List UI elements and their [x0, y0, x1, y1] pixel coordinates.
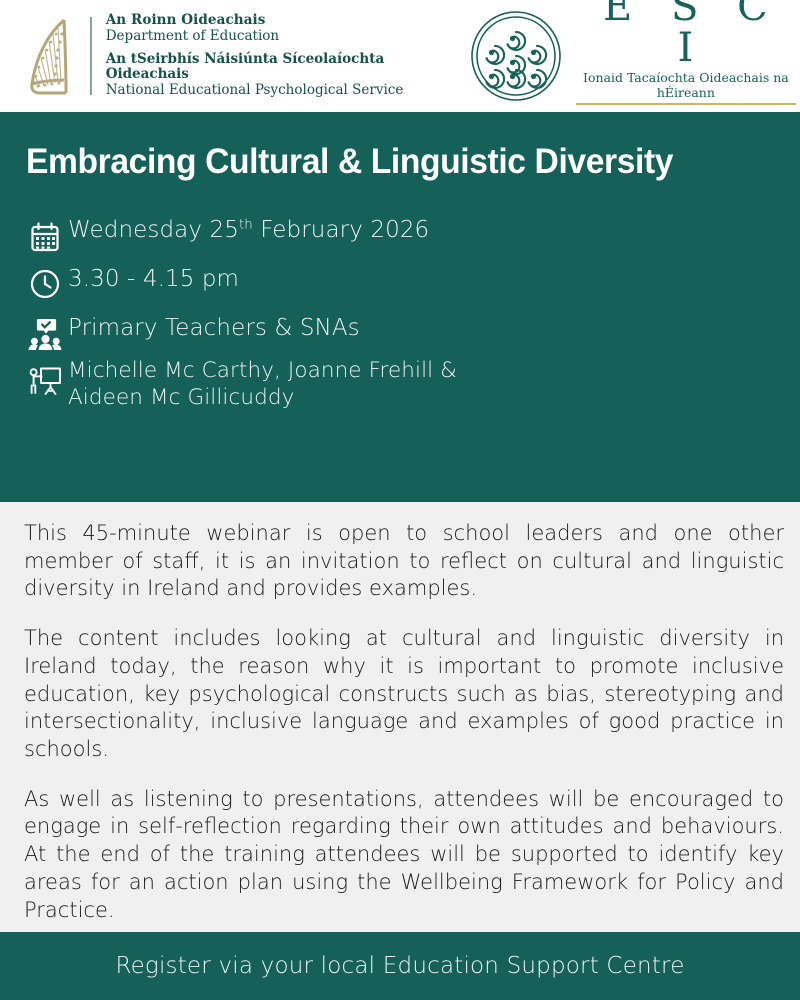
- neps-irish-title: An tSeirbhís Náisiúnta Síceolaíochta Oid…: [106, 52, 424, 84]
- event-presenters-row: Michelle Mc Carthy, Joanne Frehill &Aide…: [22, 358, 762, 411]
- header-logo-bar: An Roinn Oideachais Department of Educat…: [0, 0, 800, 112]
- event-time-text: 3.30 - 4.15 pm: [68, 266, 239, 293]
- description-paragraph-3: As well as listening to presentations, a…: [24, 786, 784, 925]
- footer-bar: Register via your local Education Suppor…: [0, 932, 800, 1000]
- neps-english-title: National Educational Psychological Servi…: [106, 83, 424, 99]
- esci-irish-name: Ionaid Tacaíochta Oideachais na hÉireann: [572, 70, 800, 100]
- presenter-board-icon: [22, 358, 68, 398]
- irish-harp-icon: [18, 12, 80, 100]
- clock-icon: [22, 266, 68, 300]
- department-logo-text: An Roinn Oideachais Department of Educat…: [106, 13, 424, 100]
- event-date-row: Wednesday 25th February 2026: [22, 217, 762, 253]
- celtic-spiral-circle-icon: [470, 10, 562, 102]
- event-audience-row: Primary Teachers & SNAs: [22, 315, 762, 351]
- logo-divider: [90, 17, 92, 95]
- event-details-list: Wednesday 25th February 2026 3.30 - 4.15…: [22, 217, 762, 424]
- description-body: This 45-minute webinar is open to school…: [24, 520, 784, 924]
- hero-section: Embracing Cultural & Linguistic Diversit…: [0, 112, 800, 502]
- dept-irish-title: An Roinn Oideachais: [106, 13, 424, 29]
- description-paragraph-2: The content includes looking at cultural…: [24, 625, 784, 764]
- esci-gold-rule: [576, 103, 796, 105]
- event-date-text: Wednesday 25th February 2026: [68, 217, 429, 244]
- page-title: Embracing Cultural & Linguistic Diversit…: [26, 142, 756, 182]
- esci-logo: E S C I Ionaid Tacaíochta Oideachais na …: [470, 0, 800, 125]
- event-date-ordinal: th: [239, 217, 253, 232]
- event-date-tail: February 2026: [253, 217, 429, 243]
- presenters-line-2: Aideen Mc Gillicuddy: [68, 385, 294, 410]
- dept-english-title: Department of Education: [106, 29, 424, 45]
- audience-group-icon: [22, 315, 68, 351]
- event-audience-text: Primary Teachers & SNAs: [68, 315, 360, 342]
- esci-logo-text: E S C I Ionaid Tacaíochta Oideachais na …: [572, 0, 800, 125]
- event-time-row: 3.30 - 4.15 pm: [22, 266, 762, 300]
- event-date-main: Wednesday 25: [68, 217, 239, 243]
- esci-acronym: E S C I: [572, 0, 800, 68]
- hero-content: Embracing Cultural & Linguistic Diversit…: [0, 112, 800, 502]
- presenters-line-1: Michelle Mc Carthy, Joanne Frehill &: [68, 358, 457, 383]
- calendar-icon: [22, 217, 68, 253]
- event-presenters-text: Michelle Mc Carthy, Joanne Frehill &Aide…: [68, 358, 457, 411]
- department-of-education-logo: An Roinn Oideachais Department of Educat…: [18, 12, 424, 100]
- register-instruction: Register via your local Education Suppor…: [115, 953, 684, 979]
- description-paragraph-1: This 45-minute webinar is open to school…: [24, 520, 784, 603]
